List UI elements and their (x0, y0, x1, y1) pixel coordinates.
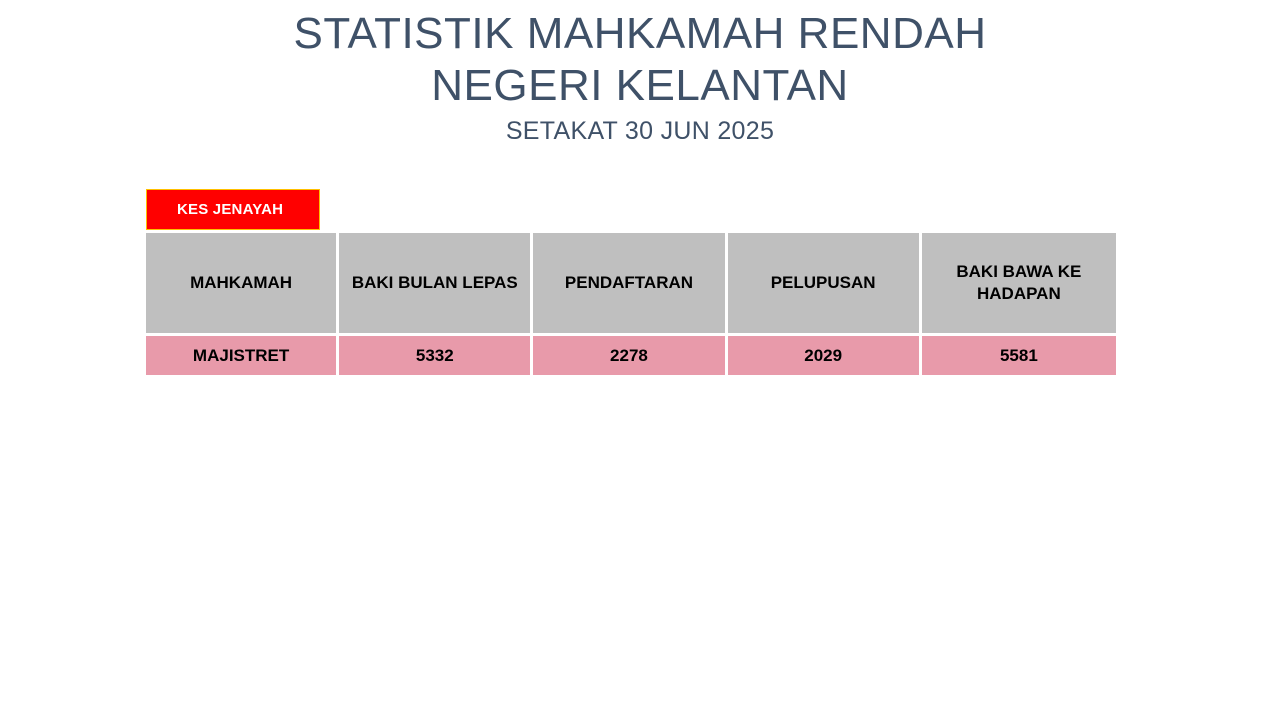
page-title-line-1: STATISTIK MAHKAMAH RENDAH (0, 8, 1280, 60)
page-title-line-2: NEGERI KELANTAN (0, 60, 1280, 112)
page-title-block: STATISTIK MAHKAMAH RENDAH NEGERI KELANTA… (0, 8, 1280, 146)
column-header-mahkamah: MAHKAMAH (146, 233, 339, 336)
column-header-pelupusan: PELUPUSAN (728, 233, 922, 336)
category-badge-kes-jenayah: KES JENAYAH (146, 189, 320, 230)
cell-pelupusan: 2029 (728, 336, 922, 375)
cell-baki-bulan-lepas: 5332 (339, 336, 533, 375)
column-header-baki-bulan-lepas: BAKI BULAN LEPAS (339, 233, 533, 336)
category-badge-label: KES JENAYAH (147, 201, 283, 218)
table-row: MAJISTRET 5332 2278 2029 5581 (146, 336, 1116, 375)
table-header: MAHKAMAH BAKI BULAN LEPAS PENDAFTARAN PE… (146, 233, 1116, 336)
column-header-pendaftaran: PENDAFTARAN (533, 233, 727, 336)
column-header-baki-bawa-ke-hadapan: BAKI BAWA KE HADAPAN (922, 233, 1116, 336)
table-body: MAJISTRET 5332 2278 2029 5581 (146, 336, 1116, 375)
cell-court-name: MAJISTRET (146, 336, 339, 375)
cell-baki-bawa-ke-hadapan: 5581 (922, 336, 1116, 375)
statistics-table: MAHKAMAH BAKI BULAN LEPAS PENDAFTARAN PE… (146, 233, 1116, 375)
cell-pendaftaran: 2278 (533, 336, 727, 375)
table-header-row: MAHKAMAH BAKI BULAN LEPAS PENDAFTARAN PE… (146, 233, 1116, 336)
page-subtitle: SETAKAT 30 JUN 2025 (0, 116, 1280, 146)
